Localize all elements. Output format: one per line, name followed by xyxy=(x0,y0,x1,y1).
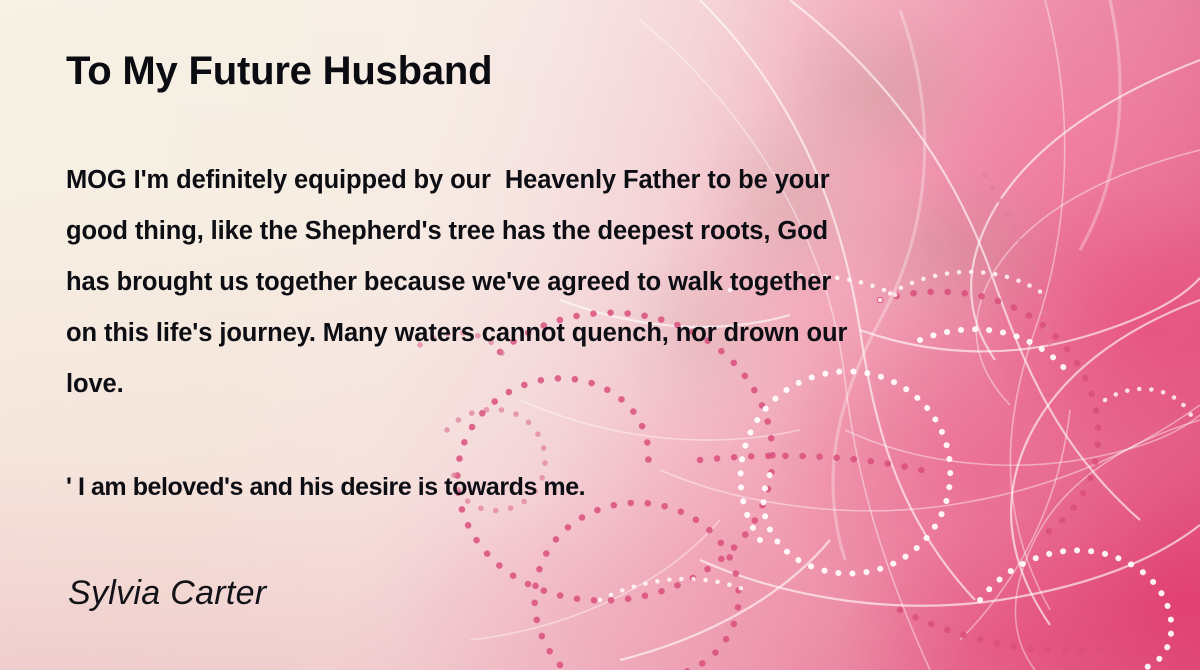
scripture-quote: ' I am beloved's and his desire is towar… xyxy=(66,470,585,504)
poem-text-content: To My Future Husband MOG I'm definitely … xyxy=(0,0,1200,670)
poem-card: .wline { fill:none; stroke:#ffffff; stro… xyxy=(0,0,1200,670)
poem-body-line: love. xyxy=(66,359,1076,410)
poem-body: MOG I'm definitely equipped by our Heave… xyxy=(66,155,1076,410)
author-signature: Sylvia Carter xyxy=(68,572,267,614)
poem-body-line: on this life's journey. Many waters cann… xyxy=(66,308,1076,359)
poem-body-line: MOG I'm definitely equipped by our Heave… xyxy=(66,155,1076,206)
poem-body-line: good thing, like the Shepherd's tree has… xyxy=(66,206,1076,257)
page-title: To My Future Husband xyxy=(66,48,492,94)
poem-body-line: has brought us together because we've ag… xyxy=(66,257,1076,308)
